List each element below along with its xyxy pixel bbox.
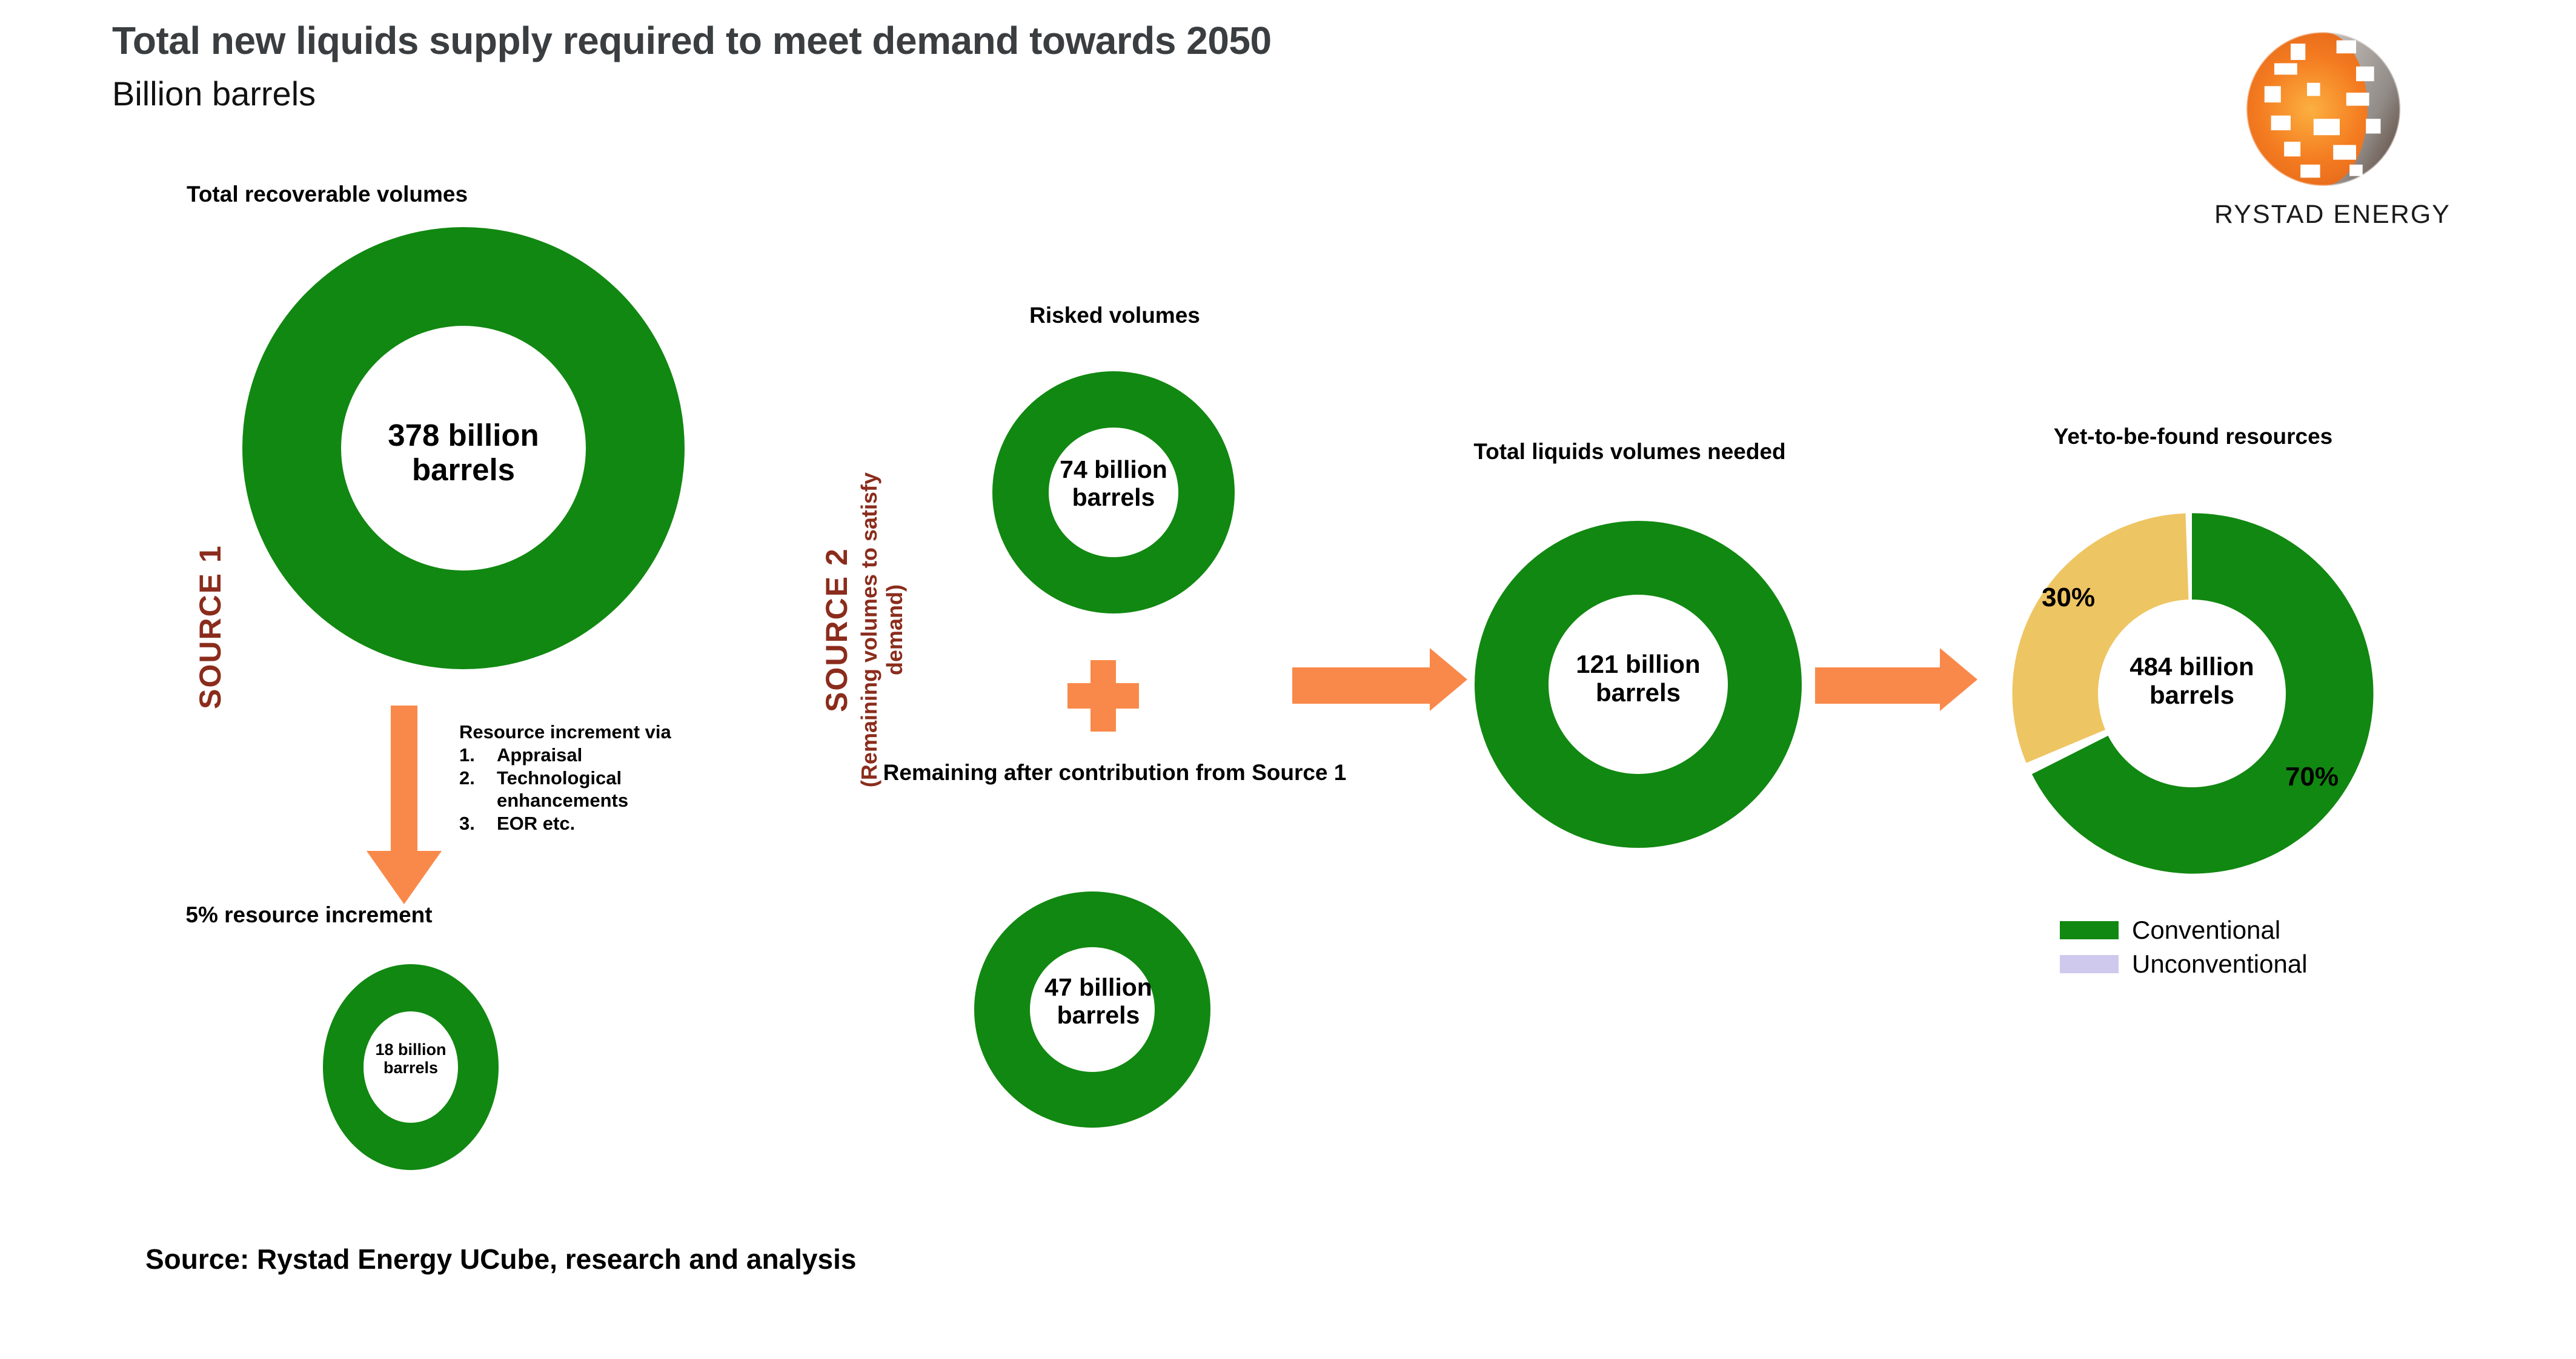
legend-swatch-unconventional — [2060, 955, 2119, 973]
list-item-number: 1. — [459, 744, 497, 767]
donut-value-line2: barrels — [1024, 1002, 1173, 1030]
source-1-label: SOURCE 1 — [193, 512, 235, 742]
caption-remaining-after-contribution: Remaining after contribution from Source… — [860, 760, 1369, 786]
caption-risked-volumes: Risked volumes — [903, 303, 1327, 329]
right-arrow-head — [1430, 648, 1467, 711]
list-item-number: 2. — [459, 767, 497, 813]
pie-center-value: 484 billion barrels — [2089, 652, 2295, 709]
legend-item-unconventional[interactable]: Unconventional — [2060, 947, 2375, 981]
donut-value-line1: 74 billion — [1030, 456, 1197, 484]
donut-value-total-needed: 121 billion barrels — [1536, 650, 1740, 707]
plus-icon — [1067, 683, 1139, 709]
legend-swatch-conventional — [2060, 921, 2119, 939]
legend-item-conventional[interactable]: Conventional — [2060, 913, 2375, 947]
donut-value-line2: barrels — [1030, 484, 1197, 512]
pie-center-line1: 484 billion — [2089, 652, 2295, 681]
list-item-number: 3. — [459, 812, 497, 835]
source-footnote: Source: Rystad Energy UCube, research an… — [145, 1243, 856, 1275]
list-item: 2. Technological enhancements — [459, 767, 744, 813]
donut-value-line1: 18 billion — [351, 1040, 470, 1059]
donut-value-line2: barrels — [1536, 678, 1740, 707]
donut-value-line1: 378 billion — [326, 418, 601, 452]
list-item-label: EOR etc. — [497, 812, 744, 835]
donut-value-line2: barrels — [326, 452, 601, 487]
pie-center-line2: barrels — [2089, 681, 2295, 709]
page-title: Total new liquids supply required to mee… — [112, 18, 1272, 63]
globe-icon — [2242, 27, 2405, 191]
caption-total-liquids-volumes-needed: Total liquids volumes needed — [1442, 439, 1817, 465]
legend-label-unconventional: Unconventional — [2132, 950, 2308, 979]
resource-increment-heading: Resource increment via — [459, 721, 744, 744]
donut-value-total-recoverable: 378 billion barrels — [326, 418, 601, 487]
rystad-energy-logo: RYSTAD ENERGY — [2205, 27, 2460, 257]
list-item-label: Technological enhancements — [497, 767, 744, 813]
caption-total-recoverable-volumes: Total recoverable volumes — [103, 182, 551, 208]
pie-yet-to-be-found: 484 billion barrels — [2004, 506, 2380, 881]
page-subtitle: Billion barrels — [112, 74, 316, 113]
donut-value-resource-increment: 18 billion barrels — [351, 1040, 470, 1077]
caption-resource-increment: 5% resource increment — [85, 902, 533, 928]
down-arrow-shaft — [391, 706, 417, 857]
source-2-title: SOURCE 2 — [819, 442, 854, 818]
list-item: 3. EOR etc. — [459, 812, 744, 835]
right-arrow-shaft — [1815, 667, 1942, 704]
donut-value-line2: barrels — [351, 1059, 470, 1077]
right-arrow-shaft — [1292, 667, 1432, 704]
donut-value-line1: 121 billion — [1536, 650, 1740, 678]
down-arrow-head — [367, 851, 442, 904]
legend-label-conventional: Conventional — [2132, 916, 2280, 945]
legend: Conventional Unconventional — [2060, 913, 2375, 981]
list-item-label: Appraisal — [497, 744, 744, 767]
pie-label-70-percent: 70% — [2285, 762, 2339, 792]
donut-value-risked-volumes: 74 billion barrels — [1030, 456, 1197, 512]
pie-label-30-percent: 30% — [2042, 583, 2095, 613]
logo-wordmark: RYSTAD ENERGY — [2205, 200, 2460, 230]
resource-increment-list: Resource increment via 1. Appraisal 2. T… — [459, 721, 744, 835]
list-item: 1. Appraisal — [459, 744, 744, 767]
caption-yet-to-be-found-resources: Yet-to-be-found resources — [2023, 424, 2363, 450]
donut-value-line1: 47 billion — [1024, 974, 1173, 1002]
donut-value-remaining: 47 billion barrels — [1024, 974, 1173, 1030]
right-arrow-head — [1940, 648, 1977, 711]
